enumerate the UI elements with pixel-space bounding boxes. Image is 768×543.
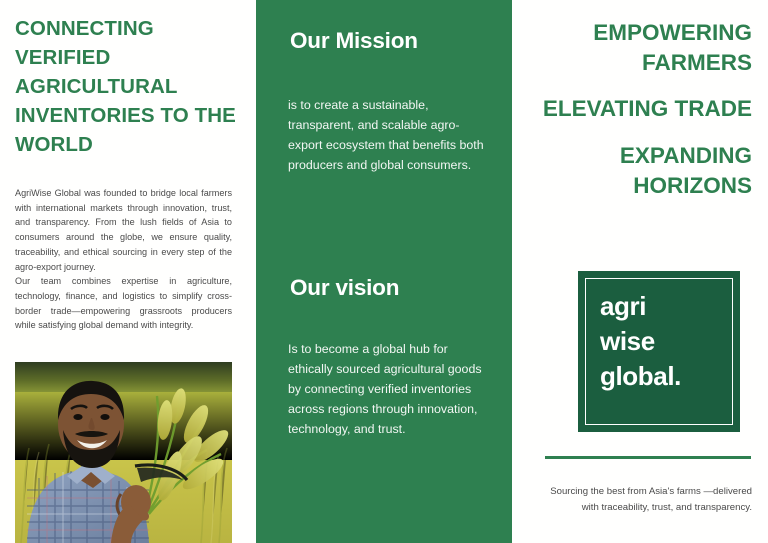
footer-divider-rule bbox=[545, 456, 751, 459]
logo-line-agri: agri bbox=[600, 289, 681, 324]
headline-elevating-trade: ELEVATING TRADE bbox=[528, 94, 752, 124]
mission-body: is to create a sustainable, transparent,… bbox=[288, 95, 493, 175]
panel-left: CONNECTING VERIFIED AGRICULTURAL INVENTO… bbox=[0, 0, 256, 543]
vision-title: Our vision bbox=[290, 275, 399, 301]
panel-middle bbox=[256, 0, 512, 543]
headline-empowering-farmers: EMPOWERING FARMERS bbox=[528, 18, 752, 77]
logo-line-wise: wise bbox=[600, 324, 681, 359]
vision-body-text: Is to become a global hub for ethically … bbox=[288, 339, 493, 439]
farmer-photo-image bbox=[15, 362, 232, 543]
left-body-paragraph-1: AgriWise Global was founded to bridge lo… bbox=[15, 186, 232, 274]
left-body-paragraph-2: Our team combines expertise in agricultu… bbox=[15, 274, 232, 333]
left-panel-heading: CONNECTING VERIFIED AGRICULTURAL INVENTO… bbox=[15, 14, 237, 160]
footer-tagline: Sourcing the best from Asia's farms —del… bbox=[538, 484, 752, 516]
headline-expanding-horizons: EXPANDING HORIZONS bbox=[528, 141, 752, 200]
right-panel-headlines: EMPOWERING FARMERS ELEVATING TRADE EXPAN… bbox=[528, 18, 752, 200]
left-panel-body: AgriWise Global was founded to bridge lo… bbox=[15, 186, 232, 333]
farmer-photo bbox=[15, 362, 232, 543]
mission-body-text: is to create a sustainable, transparent,… bbox=[288, 95, 493, 175]
vision-body: Is to become a global hub for ethically … bbox=[288, 339, 493, 439]
mission-title: Our Mission bbox=[290, 28, 418, 54]
agriwise-global-logo: agri wise global. bbox=[578, 271, 740, 432]
footer-tagline-text: Sourcing the best from Asia's farms —del… bbox=[538, 484, 752, 516]
brochure-trifold: CONNECTING VERIFIED AGRICULTURAL INVENTO… bbox=[0, 0, 768, 543]
logo-wordmark: agri wise global. bbox=[600, 289, 681, 394]
logo-line-global: global. bbox=[600, 359, 681, 394]
